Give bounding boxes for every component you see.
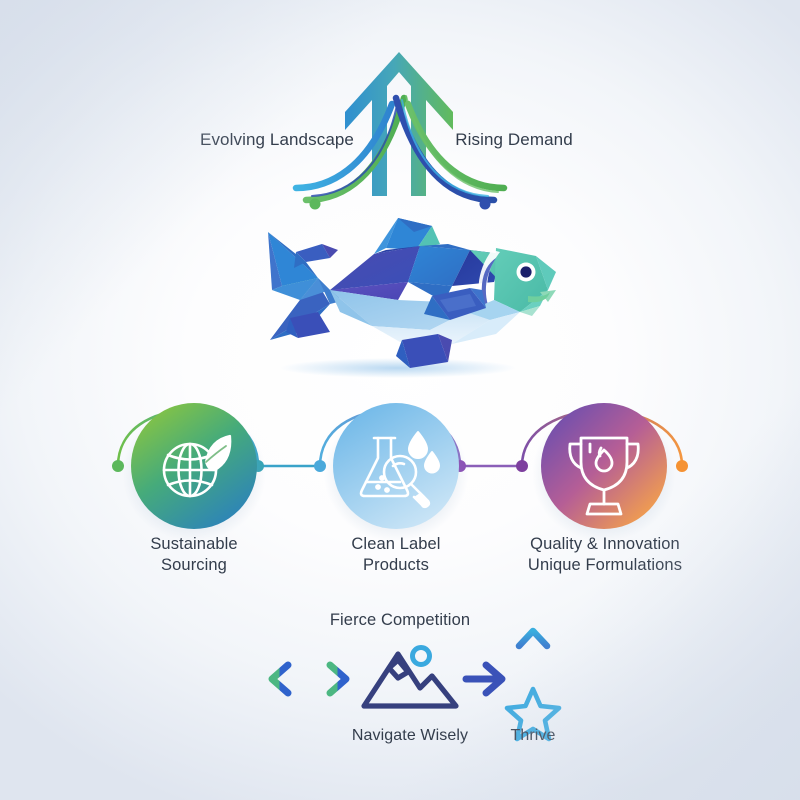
double-headed-arrow-icon <box>272 665 346 693</box>
navigate-wisely-label: Navigate Wisely <box>320 726 500 746</box>
bottom-icons-svg <box>0 0 800 800</box>
infographic-canvas: Evolving Landscape Rising Demand <box>0 0 800 800</box>
mountain-sun-icon <box>364 654 456 706</box>
right-arrow-icon <box>466 665 502 693</box>
sun-icon <box>413 648 430 665</box>
thrive-label: Thrive <box>483 726 583 746</box>
up-arrow-icon <box>519 631 547 672</box>
bottom-icons-layer <box>0 0 800 800</box>
